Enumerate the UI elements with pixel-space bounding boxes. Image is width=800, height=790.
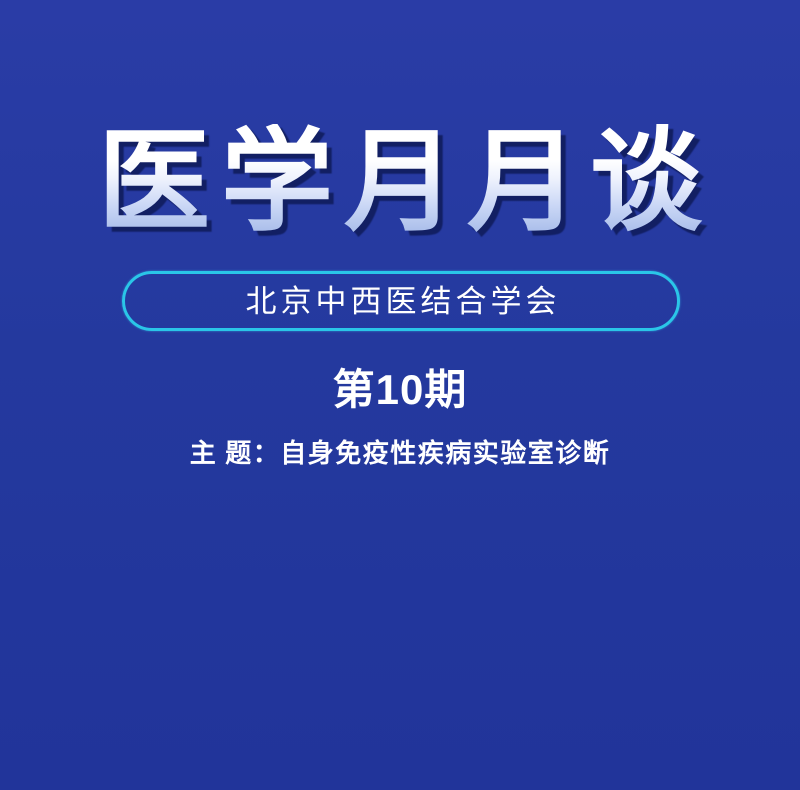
organization-pill: 北京中西医结合学会 <box>122 271 680 331</box>
poster-lower-blank-area <box>0 500 800 790</box>
poster-canvas: 医学月月谈 医学月月谈 北京中西医结合学会 第10期 主 题：自身免疫性疾病实验… <box>0 0 800 790</box>
poster-title-text: 医学月月谈 <box>87 124 713 243</box>
poster-title: 医学月月谈 医学月月谈 <box>0 124 800 243</box>
topic-line: 主 题：自身免疫性疾病实验室诊断 <box>0 438 800 469</box>
poster-title-stack: 医学月月谈 医学月月谈 <box>87 124 713 243</box>
issue-number: 第10期 <box>0 366 800 413</box>
organization-name: 北京中西医结合学会 <box>242 286 561 317</box>
